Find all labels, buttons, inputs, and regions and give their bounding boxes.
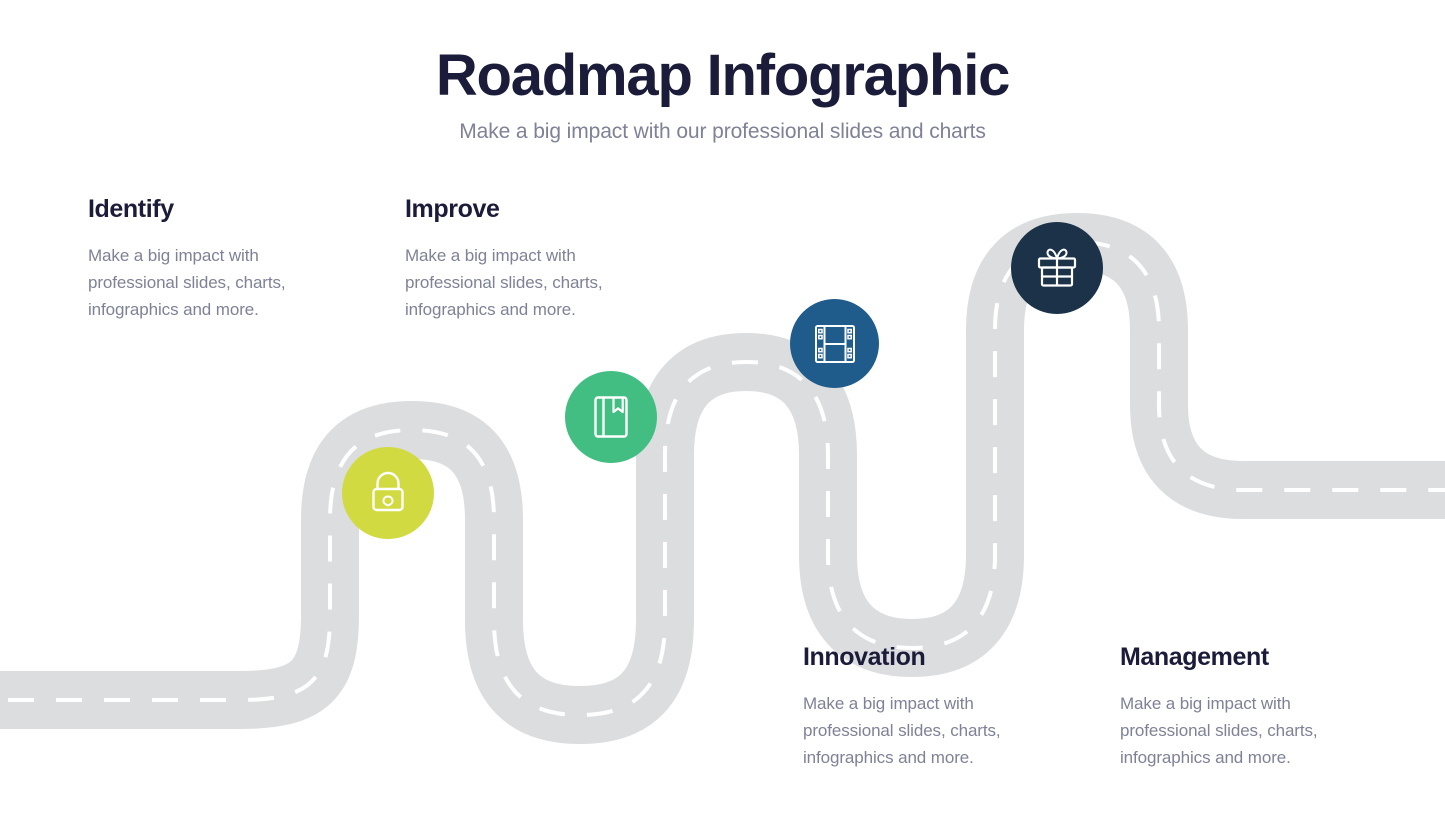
- book-icon: [589, 393, 633, 441]
- text-block-improve: Improve Make a big impact with professio…: [405, 195, 655, 324]
- milestone-node-identify[interactable]: [342, 447, 434, 539]
- film-icon: [812, 322, 858, 366]
- milestone-node-innovation[interactable]: [790, 299, 879, 388]
- text-block-identify: Identify Make a big impact with professi…: [88, 195, 338, 324]
- milestone-node-improve[interactable]: [565, 371, 657, 463]
- milestone-node-management[interactable]: [1011, 222, 1103, 314]
- gift-icon: [1033, 245, 1081, 291]
- milestone-heading-management: Management: [1120, 643, 1375, 672]
- text-block-innovation: Innovation Make a big impact with profes…: [803, 643, 1058, 772]
- milestone-body-innovation: Make a big impact with professional slid…: [803, 690, 1058, 772]
- lock-icon: [366, 470, 410, 516]
- roadmap-infographic-slide: Roadmap Infographic Make a big impact wi…: [0, 0, 1445, 814]
- milestone-heading-identify: Identify: [88, 195, 338, 224]
- milestone-body-identify: Make a big impact with professional slid…: [88, 242, 338, 324]
- milestone-body-management: Make a big impact with professional slid…: [1120, 690, 1375, 772]
- text-block-management: Management Make a big impact with profes…: [1120, 643, 1375, 772]
- milestone-body-improve: Make a big impact with professional slid…: [405, 242, 655, 324]
- milestone-heading-improve: Improve: [405, 195, 655, 224]
- milestone-heading-innovation: Innovation: [803, 643, 1058, 672]
